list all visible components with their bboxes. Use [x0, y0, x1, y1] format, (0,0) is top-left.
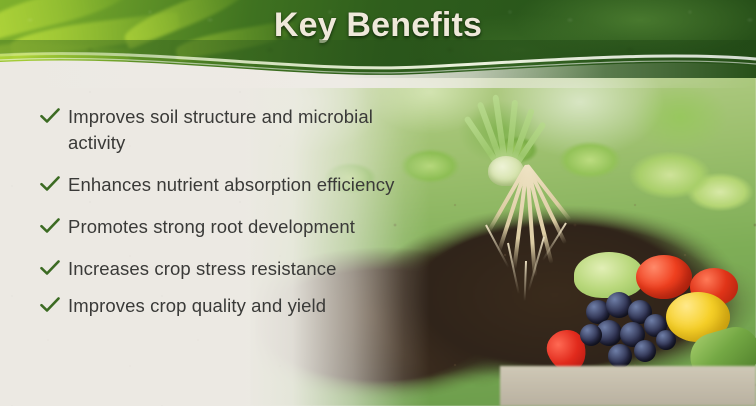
list-item: Promotes strong root development	[40, 214, 440, 240]
wave-divider	[0, 40, 756, 88]
list-item: Enhances nutrient absorption efficiency	[40, 172, 440, 198]
list-item-label: Improves crop quality and yield	[68, 293, 326, 319]
list-item: Improves crop quality and yield	[40, 293, 440, 319]
list-item-label: Enhances nutrient absorption efficiency	[68, 172, 394, 198]
ground-strip	[500, 366, 756, 406]
list-item-label: Increases crop stress resistance	[68, 256, 336, 282]
lettuce-garnish	[574, 252, 644, 298]
list-item-label: Promotes strong root development	[68, 214, 355, 240]
list-item-label: Improves soil structure and microbial ac…	[68, 104, 398, 156]
red-tomato	[636, 255, 692, 299]
check-icon	[40, 108, 62, 124]
check-icon	[40, 176, 62, 192]
benefits-list: Improves soil structure and microbial ac…	[40, 104, 440, 335]
check-icon	[40, 260, 62, 276]
key-benefits-slide: Key Benefits	[0, 0, 756, 406]
check-icon	[40, 297, 62, 313]
check-icon	[40, 218, 62, 234]
list-item: Increases crop stress resistance	[40, 256, 440, 282]
list-item: Improves soil structure and microbial ac…	[40, 104, 440, 156]
